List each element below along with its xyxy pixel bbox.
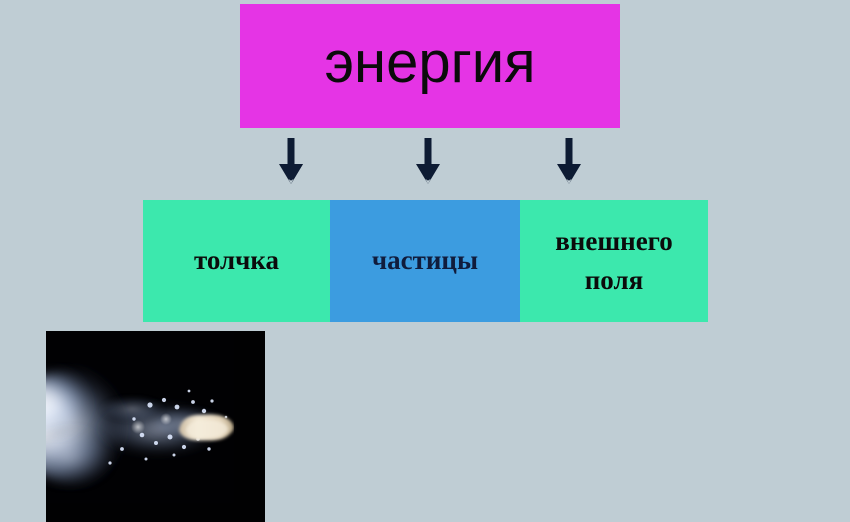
- term-label-vneshnego-polya: внешнего поля: [549, 222, 679, 300]
- terms-row: толчка частицы внешнего поля: [143, 200, 708, 322]
- term-box-chastitsy: частицы: [330, 200, 520, 322]
- diagram-canvas: энергия толчка частицы внешнего: [0, 0, 850, 522]
- term-label-line-1: внешнего: [555, 226, 673, 256]
- term-label-line-2: поля: [585, 265, 643, 295]
- arrow-down-icon-2: [415, 138, 441, 184]
- node-energy: энергия: [240, 4, 620, 128]
- term-box-vneshnego-polya: внешнего поля: [520, 200, 708, 322]
- arrow-down-icon-3: [556, 138, 582, 184]
- term-label-chastitsy: частицы: [366, 241, 484, 280]
- bullet-photograph: [46, 331, 265, 522]
- arrow-down-icon-1: [278, 138, 304, 184]
- node-energy-label: энергия: [324, 34, 535, 98]
- term-label-tolchka: толчка: [188, 241, 285, 280]
- term-box-tolchka: толчка: [143, 200, 330, 322]
